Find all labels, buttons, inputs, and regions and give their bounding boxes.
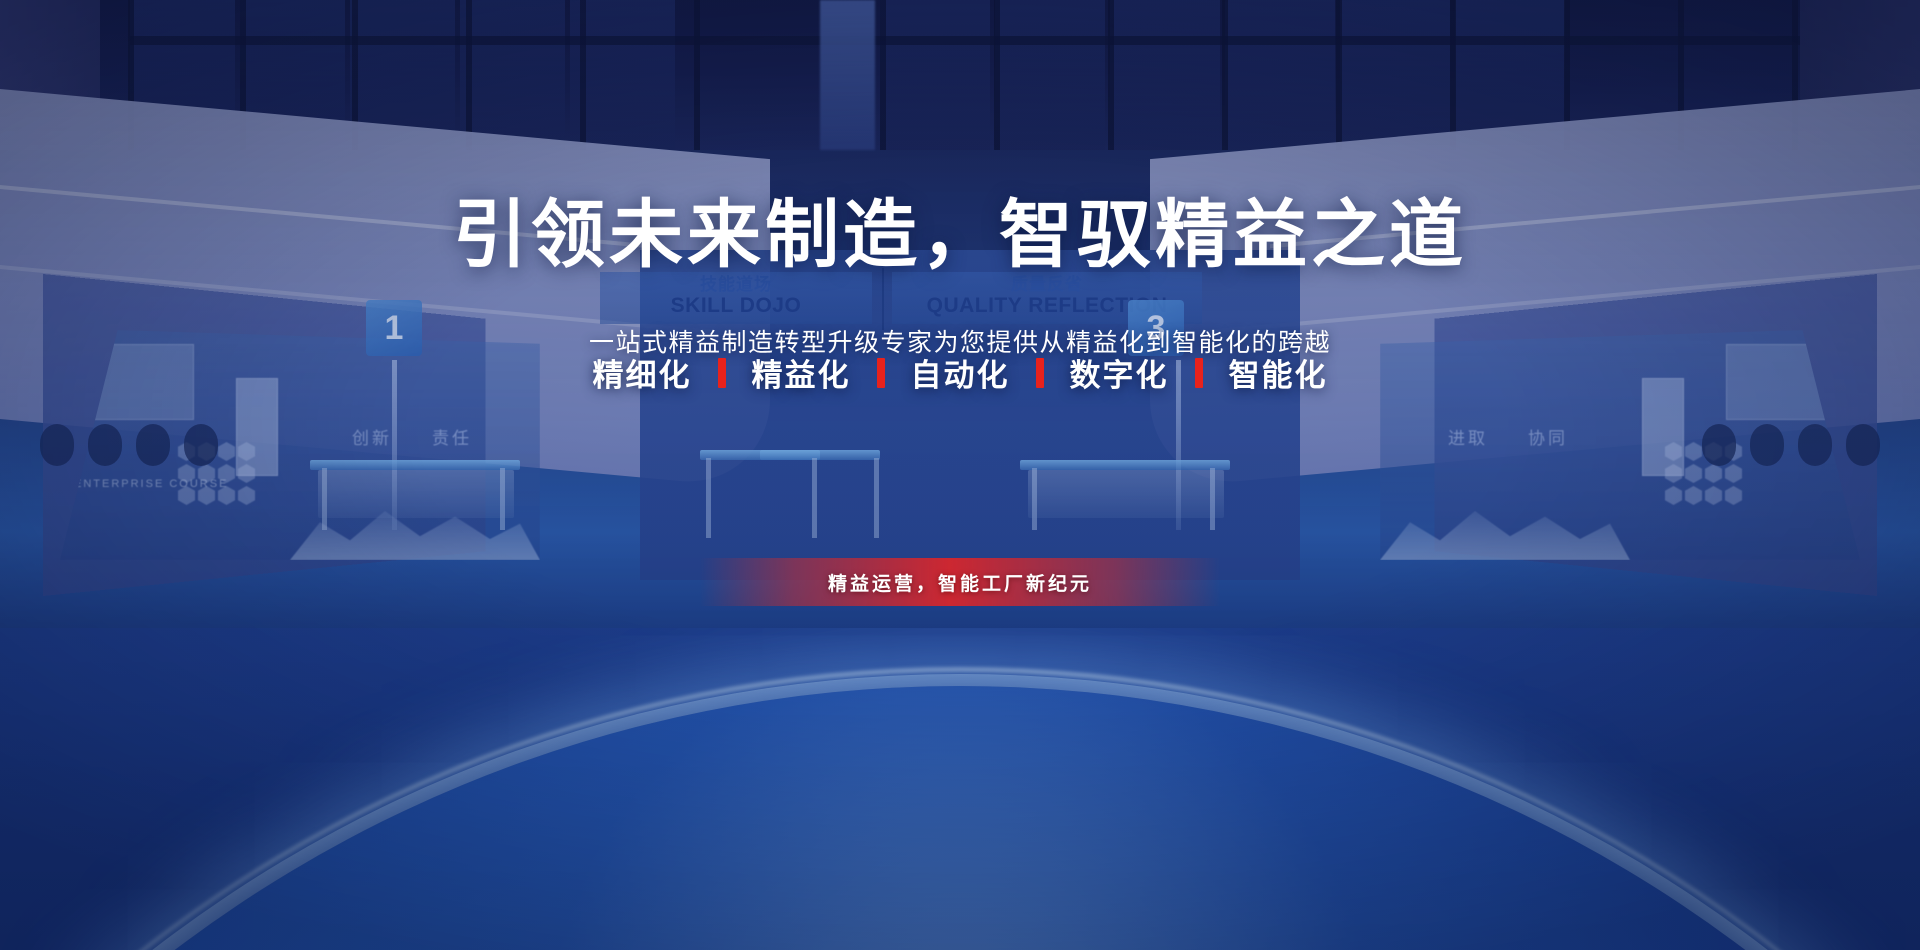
keyword-divider-bar [877,358,885,388]
bench-left-2 [318,470,514,518]
tagline-text: 精益运营，智能工厂新纪元 [828,569,1092,596]
keyword-item: 智能化 [1229,350,1328,395]
keyword-item: 精益化 [752,350,851,395]
keyword-item: 自动化 [911,350,1010,395]
keyword-divider-bar [1195,358,1203,388]
exhibit-label-collaboration: 协同 [1528,424,1568,449]
exhibit-label-enterprise-course: ENTERPRISE COURSE [74,478,228,490]
exhibit-label-responsibility: 责任 [432,424,472,449]
exhibit-label-enterprising: 进取 [1448,424,1488,449]
bench-center-2 [760,450,880,460]
machine-wheels-left [40,424,218,466]
page-title: 引领未来制造，智驭精益之道 [0,175,1920,282]
hero-banner: ENTERPRISE COURSE 创新 责任 进取 协同 技能道场 SKILL… [0,0,1920,950]
earth-scene [0,628,1920,950]
signboard-skill-dojo-en: SKILL DOJO [671,293,802,319]
keyword-item: 数字化 [1070,350,1169,395]
exhibit-label-innovation: 创新 [352,424,392,449]
earth-limb-glow [0,668,1920,950]
bench-right-1 [1020,460,1230,470]
keyword-divider-bar [1036,358,1044,388]
keyword-list: 精细化 精益化 自动化 数字化 智能化 [0,350,1920,395]
machine-wheels-right [1702,424,1880,466]
bench-right-2 [1028,470,1224,518]
keyword-item: 精细化 [593,350,692,395]
keyword-divider-bar [718,358,726,388]
bench-left-1 [310,460,520,470]
tagline-ribbon: 精益运营，智能工厂新纪元 [700,558,1220,606]
